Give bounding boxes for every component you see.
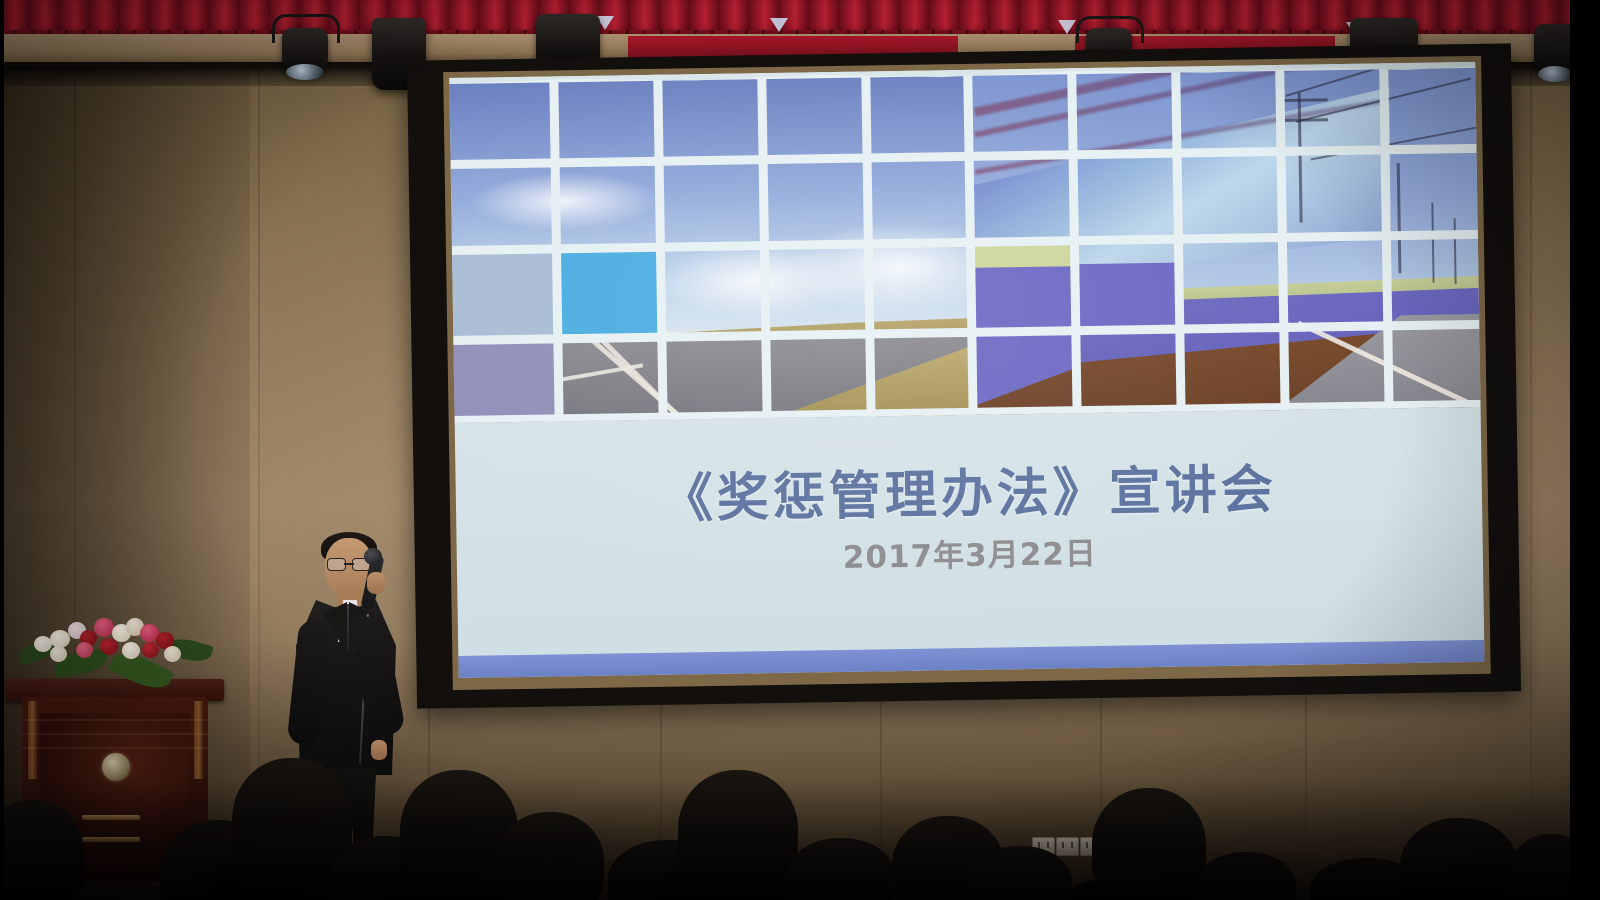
spotlight-lens (286, 64, 324, 80)
presenter-hand-lower (371, 740, 387, 760)
lectern-trim-line (22, 747, 208, 749)
lectern-emblem (102, 753, 130, 781)
ceiling-marker-icon (770, 18, 788, 32)
slide-photo-mosaic (449, 62, 1480, 423)
floral-arrangement (14, 612, 222, 684)
slide-title: 《奖惩管理办法》宣讲会 (455, 444, 1482, 535)
presenter-hand-holding-mic (367, 572, 385, 594)
flower-red (142, 642, 159, 658)
mosaic-highlight-tile (1079, 263, 1179, 327)
ceiling-marker-icon (1058, 20, 1076, 34)
mosaic-highlight-tile (558, 251, 658, 335)
lectern-gold-slat (82, 815, 140, 820)
frame-edge-right (1570, 0, 1600, 900)
spotlight-lens (1538, 66, 1572, 82)
microphone-capsule (364, 548, 382, 565)
projection-screen-frame: 《奖惩管理办法》宣讲会 2017年3月22日 (407, 43, 1521, 708)
audience-head (496, 812, 604, 900)
flower-pink (76, 642, 93, 658)
mosaic-highlight-tile (975, 264, 1075, 328)
audience-head (1400, 818, 1518, 900)
lectern-column-left (28, 701, 37, 779)
lectern-trim-line (22, 719, 208, 721)
slide-accent-bar (458, 640, 1484, 678)
mosaic-highlight-tile (975, 244, 1074, 268)
flower-red (100, 638, 118, 655)
mosaic-highlight-tile (452, 252, 553, 336)
wall-outlet (1056, 837, 1079, 856)
lectern-trim-line (22, 733, 208, 735)
flower-pink (94, 618, 114, 637)
lectern-column-right (194, 701, 203, 779)
frame-edge-left (0, 0, 4, 900)
projection-screen-mat: 《奖惩管理办法》宣讲会 2017年3月22日 (443, 56, 1491, 690)
mosaic-photograph (449, 62, 1480, 423)
auditorium-scene: 《奖惩管理办法》宣讲会 2017年3月22日 (0, 0, 1600, 900)
glasses-bridge (344, 563, 354, 565)
lectern-gold-slat (82, 837, 140, 842)
flower-white (164, 646, 181, 662)
flower-white (50, 646, 67, 662)
mosaic-highlight-tile (453, 342, 554, 423)
flower-white (122, 642, 140, 659)
presentation-slide: 《奖惩管理办法》宣讲会 2017年3月22日 (449, 62, 1484, 678)
